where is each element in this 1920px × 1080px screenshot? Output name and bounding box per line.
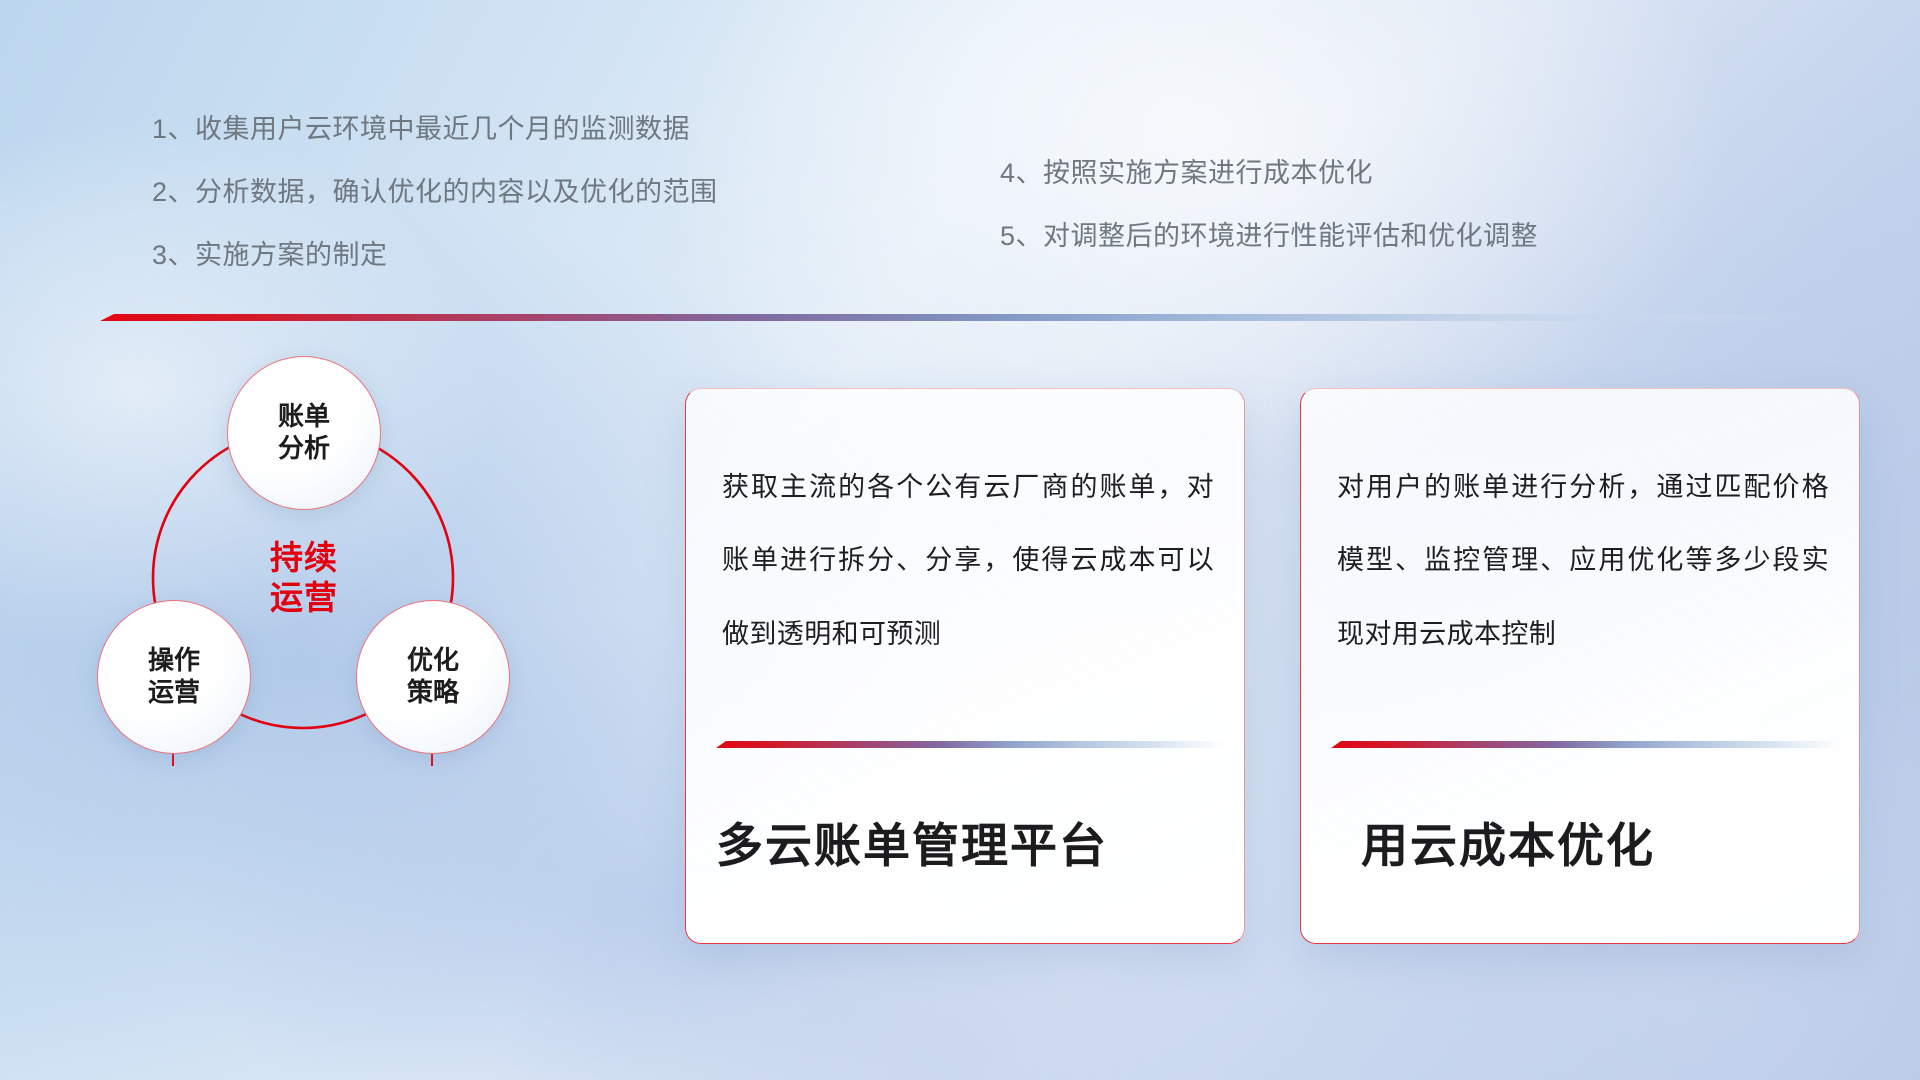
info-card-rule <box>716 741 1222 748</box>
steps-section: 1、收集用户云环境中最近几个月的监测数据 2、分析数据，确认优化的内容以及优化的… <box>0 108 1920 298</box>
venn-center-label: 持续 运营 <box>226 532 382 624</box>
info-card-multi-cloud-billing-platform[interactable]: 获取主流的各个公有云厂商的账单，对账单进行拆分、分享，使得云成本可以做到透明和可… <box>685 388 1245 944</box>
info-card-title: 多云账单管理平台 <box>716 807 1224 876</box>
venn-center-line2: 运营 <box>270 579 338 616</box>
venn-lobe-bill-analysis-line1: 账单 <box>278 401 330 431</box>
section-divider-bar <box>100 314 1815 321</box>
venn-lobe-operations-label: 操作 运营 <box>148 645 200 708</box>
slide-stage: 1、收集用户云环境中最近几个月的监测数据 2、分析数据，确认优化的内容以及优化的… <box>0 0 1920 1080</box>
info-card-body: 获取主流的各个公有云厂商的账单，对账单进行拆分、分享，使得云成本可以做到透明和可… <box>722 451 1214 671</box>
venn-center-line1: 持续 <box>270 539 338 576</box>
step-item-1: 1、收集用户云环境中最近几个月的监测数据 <box>152 116 718 143</box>
venn-lobe-bill-analysis-label: 账单 分析 <box>278 401 330 464</box>
venn-lobe-optimization-policy-label: 优化 策略 <box>407 645 459 708</box>
info-card-title: 用云成本优化 <box>1361 807 1839 876</box>
venn-lobe-bill-analysis-line2: 分析 <box>278 433 330 463</box>
step-item-5: 5、对调整后的环境进行性能评估和优化调整 <box>1000 223 1538 250</box>
venn-center-text: 持续 运营 <box>270 538 338 617</box>
continuous-operation-diagram: 账单 分析 操作 运营 优化 策略 持续 运营 <box>96 352 656 952</box>
venn-lobe-optimization-policy-line2: 策略 <box>407 677 459 707</box>
venn-lobe-optimization-policy-line1: 优化 <box>407 645 459 675</box>
venn-lobe-bill-analysis[interactable]: 账单 分析 <box>227 356 381 510</box>
info-card-cloud-cost-optimization[interactable]: 对用户的账单进行分析，通过匹配价格模型、监控管理、应用优化等多少段实现对用云成本… <box>1300 388 1860 944</box>
step-item-3: 3、实施方案的制定 <box>152 242 718 269</box>
steps-column-right: 4、按照实施方案进行成本优化 5、对调整后的环境进行性能评估和优化调整 <box>1000 160 1538 286</box>
section-divider <box>100 312 1815 324</box>
info-card-body: 对用户的账单进行分析，通过匹配价格模型、监控管理、应用优化等多少段实现对用云成本… <box>1337 451 1829 671</box>
step-item-4: 4、按照实施方案进行成本优化 <box>1000 160 1538 187</box>
steps-column-left: 1、收集用户云环境中最近几个月的监测数据 2、分析数据，确认优化的内容以及优化的… <box>152 116 718 305</box>
venn-lobe-operations-line2: 运营 <box>148 677 200 707</box>
step-item-2: 2、分析数据，确认优化的内容以及优化的范围 <box>152 179 718 206</box>
info-card-rule <box>1331 741 1837 748</box>
venn-lobe-operations-line1: 操作 <box>148 645 200 675</box>
